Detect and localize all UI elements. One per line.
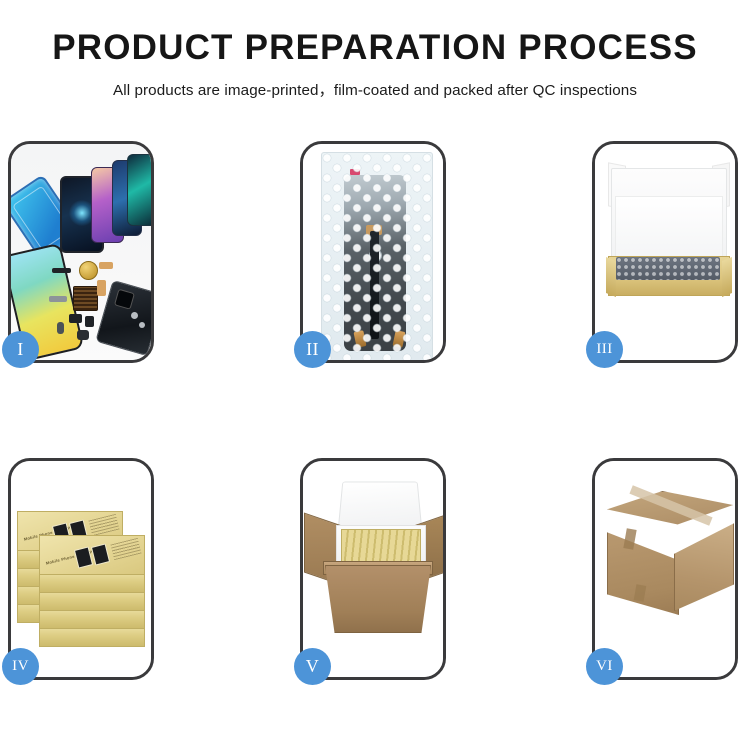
step-panel-4[interactable]: Mobile Phone Spare Parts Mobile Phone Sp… (8, 458, 154, 680)
step-panel-3[interactable]: III (592, 141, 738, 363)
bubble-texture (322, 153, 432, 360)
step-badge-1: I (2, 331, 39, 368)
carton-side-face (674, 509, 734, 611)
step-1-image (11, 144, 151, 360)
flex-cable-part-icon-1 (99, 262, 113, 269)
page-title: PRODUCT PREPARATION PROCESS (0, 30, 750, 65)
small-part-icon-2 (85, 316, 94, 327)
step-badge-2: II (294, 331, 331, 368)
box-spec-lines (88, 514, 119, 536)
product-preparation-process-page: PRODUCT PREPARATION PROCESS All products… (0, 0, 750, 750)
step-panel-2[interactable]: II (300, 141, 446, 363)
earpiece-part-icon (52, 268, 71, 273)
step-5-image (303, 461, 443, 677)
page-header: PRODUCT PREPARATION PROCESS All products… (0, 0, 750, 100)
step-badge-6: VI (586, 648, 623, 685)
stacked-box-top-right: Mobile Phone Spare Parts (39, 535, 145, 575)
box-stack: Mobile Phone Spare Parts Mobile Phone Sp… (15, 483, 151, 661)
flex-cable-part-icon-3 (49, 296, 67, 302)
step-badge-5: V (294, 648, 331, 685)
logic-chip-part-icon (73, 286, 98, 311)
step-2-image (303, 144, 443, 360)
step-badge-4: IV (2, 648, 39, 685)
process-steps-grid: I II (8, 141, 738, 680)
step-4-image: Mobile Phone Spare Parts Mobile Phone Sp… (11, 461, 151, 677)
step-panel-5[interactable]: V (300, 458, 446, 680)
small-part-icon-1 (69, 314, 82, 323)
screw-part-icon-2 (139, 322, 145, 328)
battery-part-icon (57, 322, 64, 334)
carton-body (325, 565, 431, 633)
step-3-image (595, 144, 735, 360)
screw-part-icon (131, 312, 138, 319)
step-6-image (595, 461, 735, 677)
phone-green-icon (127, 154, 151, 226)
camera-part-icon (77, 330, 89, 340)
step-panel-1[interactable]: I (8, 141, 154, 363)
bubble-wrap-bag (321, 152, 433, 360)
step-badge-3: III (586, 331, 623, 368)
box-spec-lines (110, 538, 141, 560)
speaker-coil-part-icon (79, 261, 98, 280)
flex-cable-part-icon-2 (97, 280, 106, 296)
foam-sheet (615, 196, 723, 260)
box-screen-thumbnail (91, 543, 110, 565)
step-panel-6[interactable]: VI (592, 458, 738, 680)
bubble-wrapped-contents (616, 257, 720, 280)
page-subtitle: All products are image-printed，film-coat… (0, 78, 750, 100)
